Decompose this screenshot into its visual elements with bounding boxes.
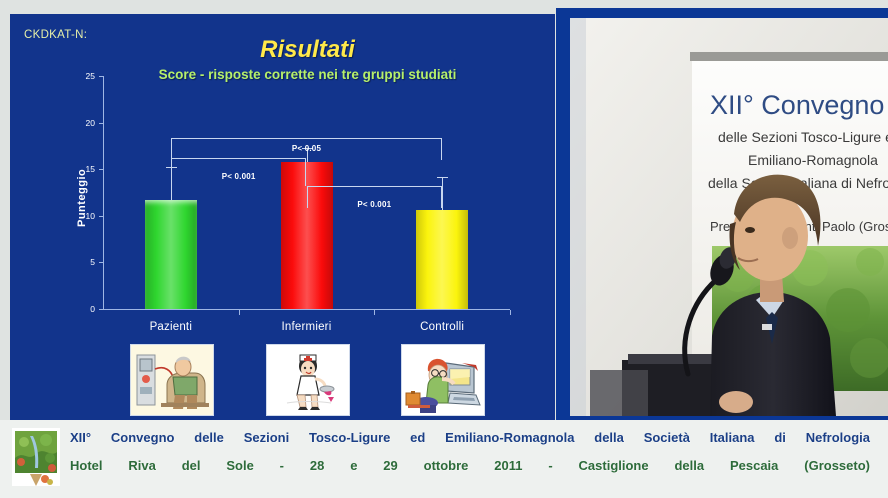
y-tick-label: 15 <box>69 164 95 174</box>
bracket-right-tick <box>441 186 442 208</box>
video-panel[interactable]: XII° Convegno delle Sezioni Tosco-Ligure… <box>556 8 888 420</box>
svg-text:Emiliano-Romagnola: Emiliano-Romagnola <box>748 152 878 168</box>
bracket-left-tick <box>307 186 308 208</box>
speaker-scene-illustration: XII° Convegno delle Sezioni Tosco-Ligure… <box>570 18 888 416</box>
y-tick-label: 20 <box>69 118 95 128</box>
x-tick-mark <box>374 310 375 315</box>
x-tick-mark <box>510 310 511 315</box>
y-tick-mark <box>99 262 104 263</box>
y-axis-line <box>103 76 104 310</box>
y-tick-mark <box>99 123 104 124</box>
slide-panel: CKDKAT-N: Risultati Score - risposte cor… <box>10 14 555 420</box>
bracket-line <box>171 138 442 139</box>
y-tick-label: 25 <box>69 71 95 81</box>
bracket-left-tick <box>171 158 172 186</box>
bar-controlli[interactable] <box>416 210 468 309</box>
bar-pazienti[interactable] <box>145 200 197 309</box>
bracket-left-tick <box>171 138 172 160</box>
y-tick-label: 5 <box>69 257 95 267</box>
x-tick-mark <box>239 310 240 315</box>
svg-text:XII° Convegno: XII° Convegno <box>710 90 884 120</box>
bracket-line <box>171 158 307 159</box>
dialysis-patient-illustration <box>131 345 213 415</box>
x-axis-label-infermieri: Infermieri <box>247 321 367 333</box>
nurse-illustration <box>267 345 349 415</box>
bar-fill <box>416 210 468 309</box>
p-value-label: P< 0.05 <box>283 144 331 153</box>
nature-logo-icon <box>12 428 60 486</box>
nurse-illustration <box>266 344 350 416</box>
error-bar-cap <box>437 177 448 178</box>
conference-logo <box>12 428 60 486</box>
error-bar <box>442 177 443 211</box>
x-axis-label-controlli: Controlli <box>382 321 502 333</box>
caption-line-2: Hotel Riva del Sole - 28 e 29 ottobre 20… <box>70 458 870 473</box>
caption-line-1-text: XII° Convegno delle Sezioni Tosco-Ligure… <box>70 430 870 445</box>
caption-line-2-text: Hotel Riva del Sole - 28 e 29 ottobre 20… <box>70 458 870 473</box>
dialysis-patient-illustration <box>130 344 214 416</box>
caption-bar: XII° Convegno delle Sezioni Tosco-Ligure… <box>0 420 888 498</box>
svg-text:delle Sezioni Tosco-Ligure ed: delle Sezioni Tosco-Ligure ed <box>718 129 888 145</box>
caption-line-1: XII° Convegno delle Sezioni Tosco-Ligure… <box>70 430 870 445</box>
y-tick-mark <box>99 216 104 217</box>
y-tick-mark <box>99 76 104 77</box>
bar-fill <box>145 200 197 309</box>
x-axis-label-pazienti: Pazienti <box>111 321 231 333</box>
bar-chart: Punteggio 0510152025 PazientiInfermieriC… <box>10 14 555 420</box>
y-tick-mark <box>99 309 104 310</box>
bracket-right-tick <box>305 158 306 186</box>
p-value-label: P< 0.001 <box>215 172 263 181</box>
presentation-viewer: CKDKAT-N: Risultati Score - risposte cor… <box>0 0 888 498</box>
video-frame: XII° Convegno delle Sezioni Tosco-Ligure… <box>570 18 888 416</box>
y-tick-label: 10 <box>69 211 95 221</box>
y-tick-label: 0 <box>69 304 95 314</box>
computer-user-illustration <box>401 344 485 416</box>
y-tick-mark <box>99 169 104 170</box>
p-value-label: P< 0.001 <box>350 200 398 209</box>
computer-user-illustration <box>402 345 484 415</box>
bracket-right-tick <box>441 138 442 160</box>
x-axis-line <box>103 309 510 310</box>
bracket-line <box>307 186 443 187</box>
